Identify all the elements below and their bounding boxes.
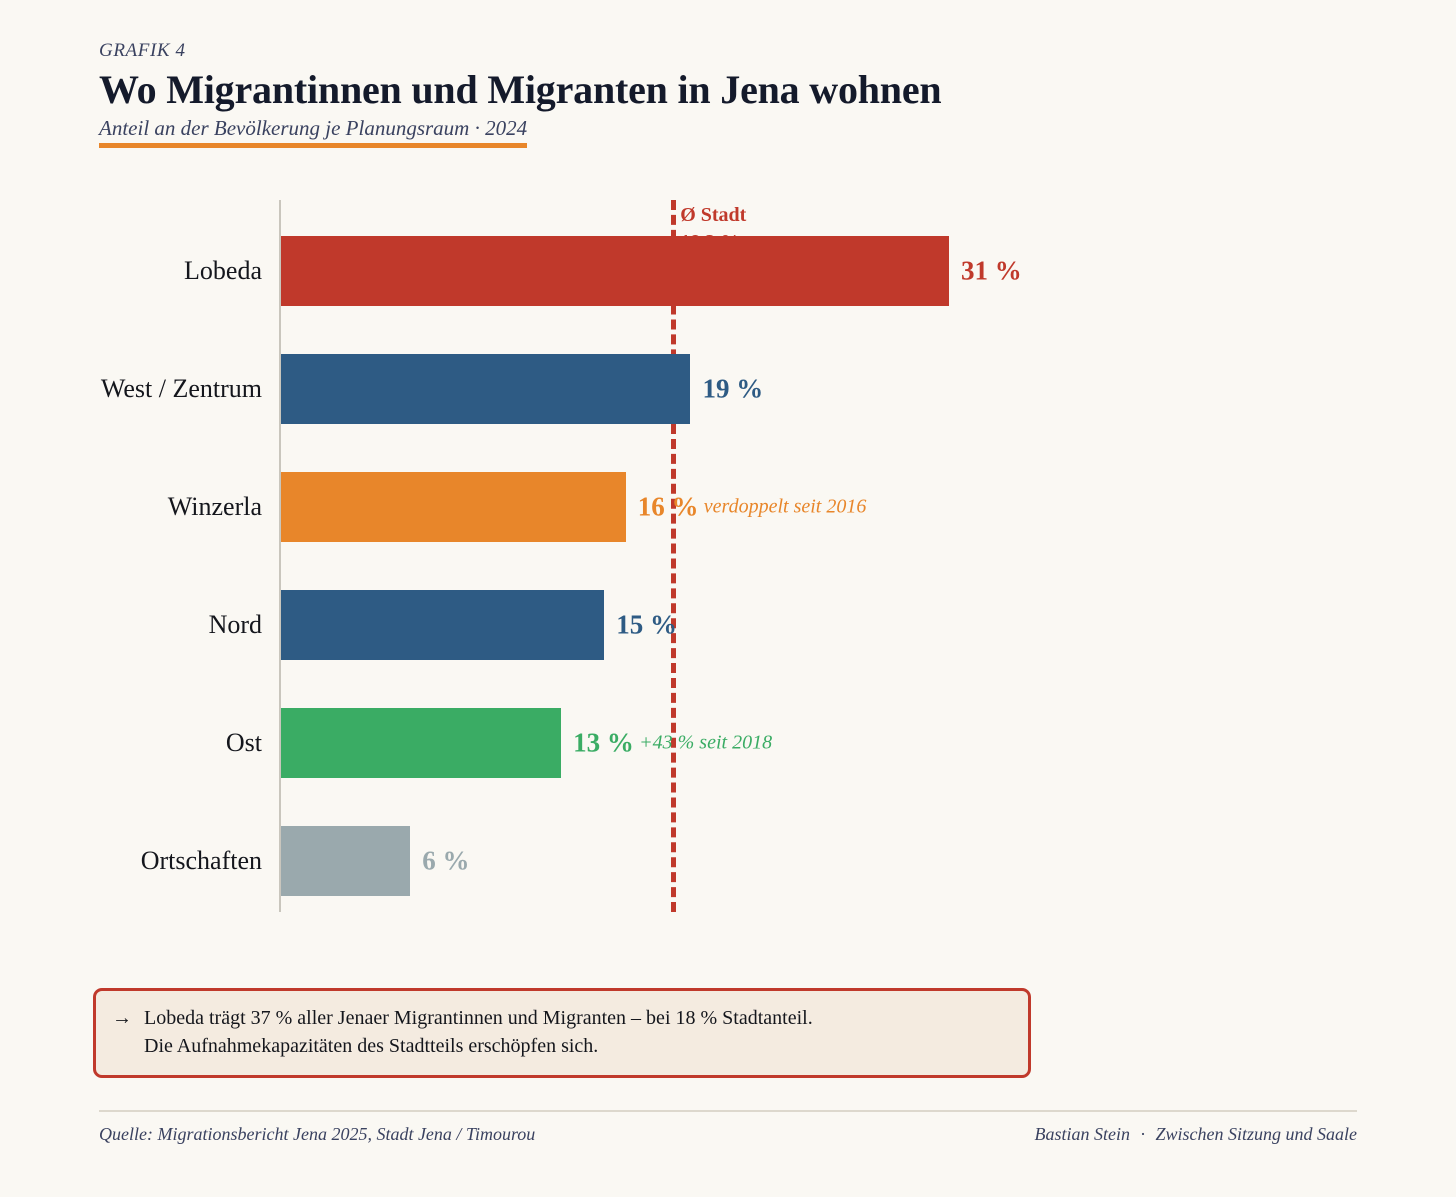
byline: Bastian Stein · Zwischen Sitzung und Saa…: [1035, 1124, 1358, 1145]
category-label: Nord: [0, 610, 262, 640]
bar-value-label: 31 %: [961, 256, 1022, 287]
bar-value-label: 13 %: [573, 728, 634, 759]
category-label: Winzerla: [0, 492, 262, 522]
footer: Quelle: Migrationsbericht Jena 2025, Sta…: [99, 1124, 1357, 1145]
bar-annotation: verdoppelt seit 2016: [704, 496, 867, 519]
callout-text: Lobeda trägt 37 % aller Jenaer Migrantin…: [144, 1004, 813, 1061]
byline-separator: ·: [1141, 1124, 1146, 1144]
arrow-right-icon: →: [112, 1004, 132, 1032]
average-label-text: Ø Stadt: [680, 204, 746, 226]
bar[interactable]: [281, 354, 690, 424]
page-subtitle: Anteil an der Bevölkerung je Planungsrau…: [99, 116, 527, 140]
bar-row: Nord15 %: [0, 566, 1456, 684]
bar[interactable]: [281, 826, 410, 896]
bar-value-label: 15 %: [616, 610, 677, 641]
bar[interactable]: [281, 590, 604, 660]
subtitle-underline: Anteil an der Bevölkerung je Planungsrau…: [99, 116, 527, 148]
chart-header: GRAFIK 4 Wo Migrantinnen und Migranten i…: [99, 40, 1359, 148]
bar-row: Winzerla16 %verdoppelt seit 2016: [0, 448, 1456, 566]
bar-row: Ost13 %+43 % seit 2018: [0, 684, 1456, 802]
category-label: Lobeda: [0, 256, 262, 286]
bar[interactable]: [281, 472, 626, 542]
insight-callout: → Lobeda trägt 37 % aller Jenaer Migrant…: [93, 988, 1031, 1078]
bar[interactable]: [281, 236, 949, 306]
bar-value-label: 6 %: [422, 846, 469, 877]
footer-divider: [99, 1110, 1357, 1112]
category-label: West / Zentrum: [0, 374, 262, 404]
kicker-label: GRAFIK 4: [99, 40, 1359, 62]
author-name: Bastian Stein: [1035, 1124, 1131, 1144]
category-label: Ortschaften: [0, 846, 262, 876]
category-label: Ost: [0, 728, 262, 758]
bar-chart: Ø Stadt 18,2 % Lobeda31 %West / Zentrum1…: [0, 190, 1456, 930]
bar-annotation: +43 % seit 2018: [639, 732, 772, 755]
bar-value-label: 16 %: [638, 492, 699, 523]
bar-value-label: 19 %: [702, 374, 763, 405]
callout-line-1: Lobeda trägt 37 % aller Jenaer Migrantin…: [144, 1004, 813, 1032]
bar-row: Ortschaften6 %: [0, 802, 1456, 920]
page-title: Wo Migrantinnen und Migranten in Jena wo…: [99, 68, 1359, 113]
publication-name: Zwischen Sitzung und Saale: [1156, 1124, 1358, 1144]
bar[interactable]: [281, 708, 561, 778]
callout-line-2: Die Aufnahmekapazitäten des Stadtteils e…: [144, 1032, 813, 1060]
bar-row: West / Zentrum19 %: [0, 330, 1456, 448]
source-note: Quelle: Migrationsbericht Jena 2025, Sta…: [99, 1124, 535, 1145]
